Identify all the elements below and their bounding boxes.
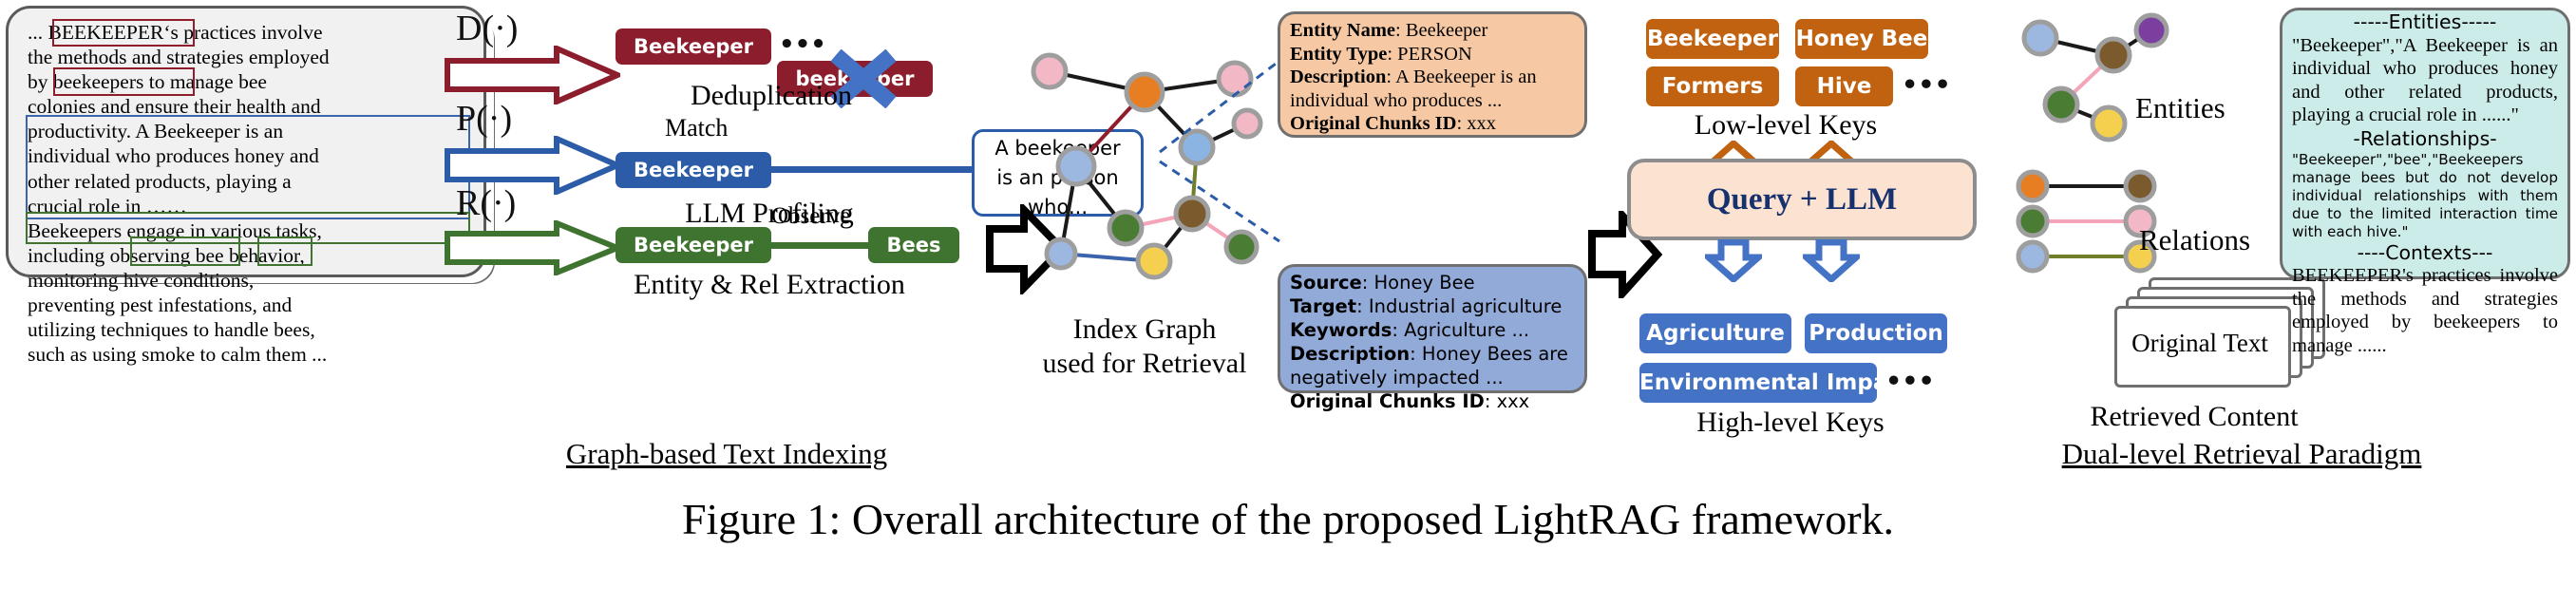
- original-text-label: Original Text: [2114, 329, 2285, 358]
- extraction-chip-target[interactable]: Bees: [868, 227, 959, 263]
- relation-target-row: Target: Industrial agriculture: [1280, 294, 1584, 318]
- entity-name-value: Beekeeper: [1406, 20, 1488, 41]
- entity-name-row: Entity Name: Beekeeper: [1280, 14, 1584, 43]
- entity-chunk-label: Original Chunks ID: [1290, 113, 1456, 134]
- source-line: such as using smoke to calm them ...: [28, 342, 466, 367]
- dedup-caption: Deduplication: [610, 80, 933, 112]
- graph-caption-line2: used for Retrieval: [997, 348, 1292, 380]
- entity-chunk-value: xxx: [1467, 113, 1496, 134]
- relation-chunk-value: xxx: [1497, 390, 1530, 412]
- profiling-caption: LLM Profiling: [598, 198, 940, 230]
- source-line: by beekeepers to manage bee: [28, 69, 466, 94]
- source-line: the methods and strategies employed: [28, 45, 466, 69]
- relation-keywords-row: Keywords: Agriculture ...: [1280, 318, 1584, 342]
- source-line: ... BEEKEEPER‘s practices involve: [28, 20, 466, 45]
- low-level-key[interactable]: Beekeeper: [1646, 19, 1779, 59]
- relation-keywords-label: Keywords: [1290, 319, 1392, 341]
- source-line: utilizing techniques to handle bees,: [28, 317, 466, 342]
- entity-type-row: Entity Type: PERSON: [1280, 43, 1584, 66]
- entities-section-body: "Beekeeper","A Beekeeper is an individua…: [2282, 34, 2567, 127]
- low-level-keys-ellipsis: •••: [1902, 70, 1951, 100]
- low-level-key[interactable]: Hive: [1795, 66, 1893, 106]
- query-llm-box[interactable]: Query + LLM: [1627, 159, 1977, 240]
- source-line: including observing bee behavior,: [28, 243, 466, 268]
- source-line: preventing pest infestations, and: [28, 293, 466, 317]
- source-text-body: ... BEEKEEPER‘s practices involve the me…: [28, 20, 466, 265]
- relation-target-value: Industrial agriculture: [1369, 295, 1563, 317]
- profiling-connector: [769, 166, 975, 173]
- operator-dedup-label: D(·): [456, 8, 518, 49]
- contexts-section-header: ----Contexts---: [2282, 241, 2567, 265]
- dedup-chip-left[interactable]: Beekeeper: [616, 28, 771, 65]
- entity-type-value: PERSON: [1397, 44, 1472, 65]
- extraction-chip-source[interactable]: Beekeeper: [616, 227, 771, 263]
- figure-canvas: ... BEEKEEPER‘s practices involve the me…: [0, 0, 2576, 606]
- source-text-panel: ... BEEKEEPER‘s practices involve the me…: [6, 6, 486, 277]
- relation-source-label: Source: [1290, 272, 1362, 294]
- extraction-edge: [769, 242, 870, 249]
- entity-desc-label: Description: [1290, 66, 1386, 87]
- extraction-edge-label: Observe: [771, 203, 850, 230]
- source-line: other related products, playing a: [28, 169, 466, 194]
- relation-desc-label: Description: [1290, 343, 1410, 365]
- entities-section-header: -----Entities-----: [2282, 10, 2567, 34]
- query-llm-label: Query + LLM: [1631, 162, 1973, 237]
- retrieved-content-label: Retrieved Content: [2023, 401, 2365, 433]
- section-label-retrieval: Dual-level Retrieval Paradigm: [1909, 437, 2574, 471]
- relationships-section-header: -Relationships-: [2282, 127, 2567, 151]
- high-level-keys-ellipsis: •••: [1885, 367, 1935, 396]
- dedup-ellipsis: •••: [779, 30, 826, 59]
- source-line: monitoring hive conditions,: [28, 268, 466, 293]
- figure-caption: Figure 1: Overall architecture of the pr…: [0, 494, 2576, 544]
- operator-profile-label: P(·): [456, 98, 512, 140]
- dedup-arrow-icon: [445, 46, 620, 104]
- relation-desc-row: Description: Honey Bees are negatively i…: [1280, 342, 1584, 389]
- entity-type-label: Entity Type: [1290, 44, 1387, 65]
- match-label: Match: [665, 114, 779, 142]
- relation-target-label: Target: [1290, 295, 1356, 317]
- entities-label: Entities: [2135, 91, 2226, 125]
- entities-mini-graph: [2004, 9, 2185, 161]
- relation-source-value: Honey Bee: [1374, 272, 1475, 294]
- low-level-keys-caption: Low-level Keys: [1638, 109, 1933, 142]
- source-line: colonies and ensure their health and: [28, 94, 466, 119]
- high-level-down-arrow-2-icon: [1803, 239, 1860, 282]
- high-level-keys-caption: High-level Keys: [1638, 407, 1942, 439]
- source-line: productivity. A Beekeeper is an: [28, 119, 466, 143]
- relation-chunk-label: Original Chunks ID: [1290, 390, 1485, 412]
- relation-chunk-row: Original Chunks ID: xxx: [1280, 389, 1584, 413]
- graph-to-card-leaders: [1154, 38, 1287, 256]
- extraction-arrow-icon: [445, 220, 620, 275]
- low-level-key[interactable]: Honey Bee: [1795, 19, 1928, 59]
- high-level-key[interactable]: Agriculture: [1639, 313, 1791, 353]
- entity-desc-row: Description: A Beekeeper is an individua…: [1280, 66, 1584, 112]
- high-level-key[interactable]: Production: [1805, 313, 1947, 353]
- profiling-chip[interactable]: Beekeeper: [616, 152, 771, 188]
- entity-chunk-row: Original Chunks ID: xxx: [1280, 112, 1584, 136]
- source-line: individual who produces honey and: [28, 143, 466, 168]
- source-line: crucial role in ……: [28, 194, 466, 218]
- relation-info-card: Source: Honey Bee Target: Industrial agr…: [1278, 264, 1587, 393]
- source-line: Beekeepers engage in various tasks,: [28, 218, 466, 243]
- relation-source-row: Source: Honey Bee: [1280, 267, 1584, 294]
- section-label-indexing: Graph-based Text Indexing: [432, 437, 1021, 471]
- relations-label: Relations: [2139, 223, 2250, 257]
- relation-keywords-value: Agriculture ...: [1404, 319, 1529, 341]
- high-level-key[interactable]: Environmental Impact: [1639, 363, 1877, 403]
- relationships-section-body: "Beekeeper","bee","Beekeepers manage bee…: [2282, 151, 2567, 241]
- graph-caption-line1: Index Graph: [1007, 313, 1282, 346]
- contexts-section-body: BEEKEEPER's practices involve the method…: [2282, 264, 2567, 357]
- entity-info-card: Entity Name: Beekeeper Entity Type: PERS…: [1278, 11, 1587, 138]
- low-level-key[interactable]: Formers: [1646, 66, 1779, 106]
- retrieved-context-card: -----Entities----- "Beekeeper","A Beekee…: [2280, 8, 2570, 279]
- extraction-caption: Entity & Rel Extraction: [570, 269, 969, 301]
- entity-name-label: Entity Name: [1290, 20, 1395, 41]
- operator-extract-label: R(·): [456, 182, 516, 224]
- high-level-down-arrow-icon: [1705, 239, 1762, 282]
